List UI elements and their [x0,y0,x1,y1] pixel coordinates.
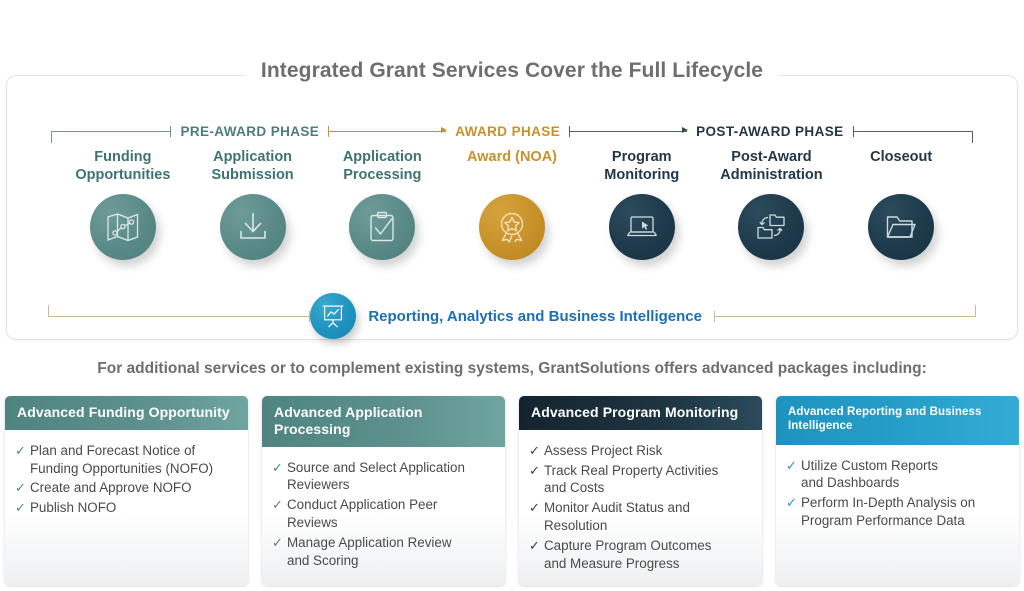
list-item: ✓ Utilize Custom Reports and Dashboards [786,457,1007,493]
connector-bar [569,131,687,132]
page-title-text: Integrated Grant Services Cover the Full… [245,59,779,82]
list-item-text: Manage Application Review and Scoring [287,534,493,570]
card-body: ✓ Utilize Custom Reports and Dashboards … [776,445,1019,585]
check-icon: ✓ [15,442,30,478]
check-icon: ✓ [272,534,287,570]
list-item: ✓ Assess Project Risk [529,442,750,460]
phase-bracket-row: PRE-AWARD PHASE AWARD PHASE POST-AWARD P… [0,117,1024,145]
card-title: Advanced Application Processing [262,396,505,447]
check-icon: ✓ [272,459,287,495]
list-item-text: Source and Select Application Reviewers [287,459,493,495]
card-advanced-funding-opportunity[interactable]: Advanced Funding Opportunity ✓ Plan and … [5,396,248,585]
connector-up-tick [975,305,976,317]
connector-bar [714,316,976,317]
presentation-chart-icon[interactable] [310,293,356,339]
reporting-connector-right [714,309,976,323]
check-icon: ✓ [15,499,30,517]
check-icon: ✓ [272,496,287,532]
stage-label: Post-Award Administration [720,148,822,184]
stage-application-processing[interactable]: Application Processing [317,148,447,260]
list-item-text: Monitor Audit Status and Resolution [544,499,750,535]
list-item-text: Utilize Custom Reports and Dashboards [801,457,1007,493]
download-tray-icon [220,194,286,260]
list-item: ✓ Conduct Application Peer Reviews [272,496,493,532]
award-ribbon-icon [479,194,545,260]
connector-bar [853,131,973,132]
folders-exchange-icon [738,194,804,260]
list-item: ✓ Monitor Audit Status and Resolution [529,499,750,535]
list-item-text: Publish NOFO [30,499,236,517]
map-route-icon [90,194,156,260]
reporting-connector-left [48,309,310,323]
advanced-packages-cards: Advanced Funding Opportunity ✓ Plan and … [5,396,1019,585]
list-item: ✓ Track Real Property Activities and Cos… [529,462,750,498]
card-advanced-reporting-business-intelligence[interactable]: Advanced Reporting and Business Intellig… [776,396,1019,585]
stage-program-monitoring[interactable]: Program Monitoring [577,148,707,260]
stage-label: Award (NOA) [467,148,557,184]
reporting-bar: Reporting, Analytics and Business Intell… [0,292,1024,340]
list-item-text: Create and Approve NOFO [30,479,236,497]
connector-bar [51,131,171,132]
list-item-text: Perform In-Depth Analysis on Program Per… [801,494,1007,530]
stage-post-award-administration[interactable]: Post-Award Administration [707,148,837,260]
card-body: ✓ Source and Select Application Reviewer… [262,447,505,585]
stage-label: Application Submission [211,148,293,184]
connector-bar [48,316,310,317]
open-folder-icon [868,194,934,260]
list-item: ✓ Manage Application Review and Scoring [272,534,493,570]
connector-right-outer [853,124,973,138]
phase-label-award: AWARD PHASE [446,124,569,139]
connector-down-tick [51,131,52,143]
list-item-text: Plan and Forecast Notice of Funding Oppo… [30,442,236,478]
connector-award-to-post [569,124,687,138]
page-title: Integrated Grant Services Cover the Full… [0,59,1024,83]
list-item-text: Track Real Property Activities and Costs [544,462,750,498]
connector-bar [328,131,446,132]
card-advanced-application-processing[interactable]: Advanced Application Processing ✓ Source… [262,396,505,585]
stage-label: Application Processing [343,148,422,184]
lifecycle-stages: Funding Opportunities Application Submis… [0,148,1024,260]
list-item-text: Conduct Application Peer Reviews [287,496,493,532]
stage-label: Funding Opportunities [75,148,170,184]
card-body: ✓ Assess Project Risk ✓ Track Real Prope… [519,430,762,585]
list-item: ✓ Plan and Forecast Notice of Funding Op… [15,442,236,478]
list-item: ✓ Publish NOFO [15,499,236,517]
phase-label-post-award: POST-AWARD PHASE [687,124,852,139]
check-icon: ✓ [15,479,30,497]
connector-down-tick [972,131,973,143]
reporting-label: Reporting, Analytics and Business Intell… [356,308,714,325]
card-advanced-program-monitoring[interactable]: Advanced Program Monitoring ✓ Assess Pro… [519,396,762,585]
connector-pre-to-award [328,124,446,138]
check-icon: ✓ [529,537,544,573]
stage-label: Closeout [870,148,932,184]
card-body: ✓ Plan and Forecast Notice of Funding Op… [5,430,248,585]
phase-label-pre-award: PRE-AWARD PHASE [171,124,328,139]
stage-closeout[interactable]: Closeout [836,148,966,260]
check-icon: ✓ [529,462,544,498]
list-item: ✓ Capture Program Outcomes and Measure P… [529,537,750,573]
stage-award-noa[interactable]: Award (NOA) [447,148,577,260]
check-icon: ✓ [786,457,801,493]
arrow-head-icon [682,127,688,133]
list-item: ✓ Create and Approve NOFO [15,479,236,497]
stage-application-submission[interactable]: Application Submission [188,148,318,260]
connector-left-outer [51,124,171,138]
card-title: Advanced Program Monitoring [519,396,762,430]
check-icon: ✓ [529,442,544,460]
laptop-cursor-icon [609,194,675,260]
check-icon: ✓ [786,494,801,530]
clipboard-check-icon [349,194,415,260]
card-title: Advanced Funding Opportunity [5,396,248,430]
list-item: ✓ Perform In-Depth Analysis on Program P… [786,494,1007,530]
stage-label: Program Monitoring [604,148,679,184]
list-item-text: Capture Program Outcomes and Measure Pro… [544,537,750,573]
list-item: ✓ Source and Select Application Reviewer… [272,459,493,495]
connector-cap-right [309,311,310,322]
list-item-text: Assess Project Risk [544,442,750,460]
subtitle: For additional services or to complement… [0,360,1024,378]
connector-cap-right [170,126,171,137]
card-title: Advanced Reporting and Business Intellig… [776,396,1019,445]
stage-funding-opportunities[interactable]: Funding Opportunities [58,148,188,260]
check-icon: ✓ [529,499,544,535]
arrow-head-icon [441,127,447,133]
